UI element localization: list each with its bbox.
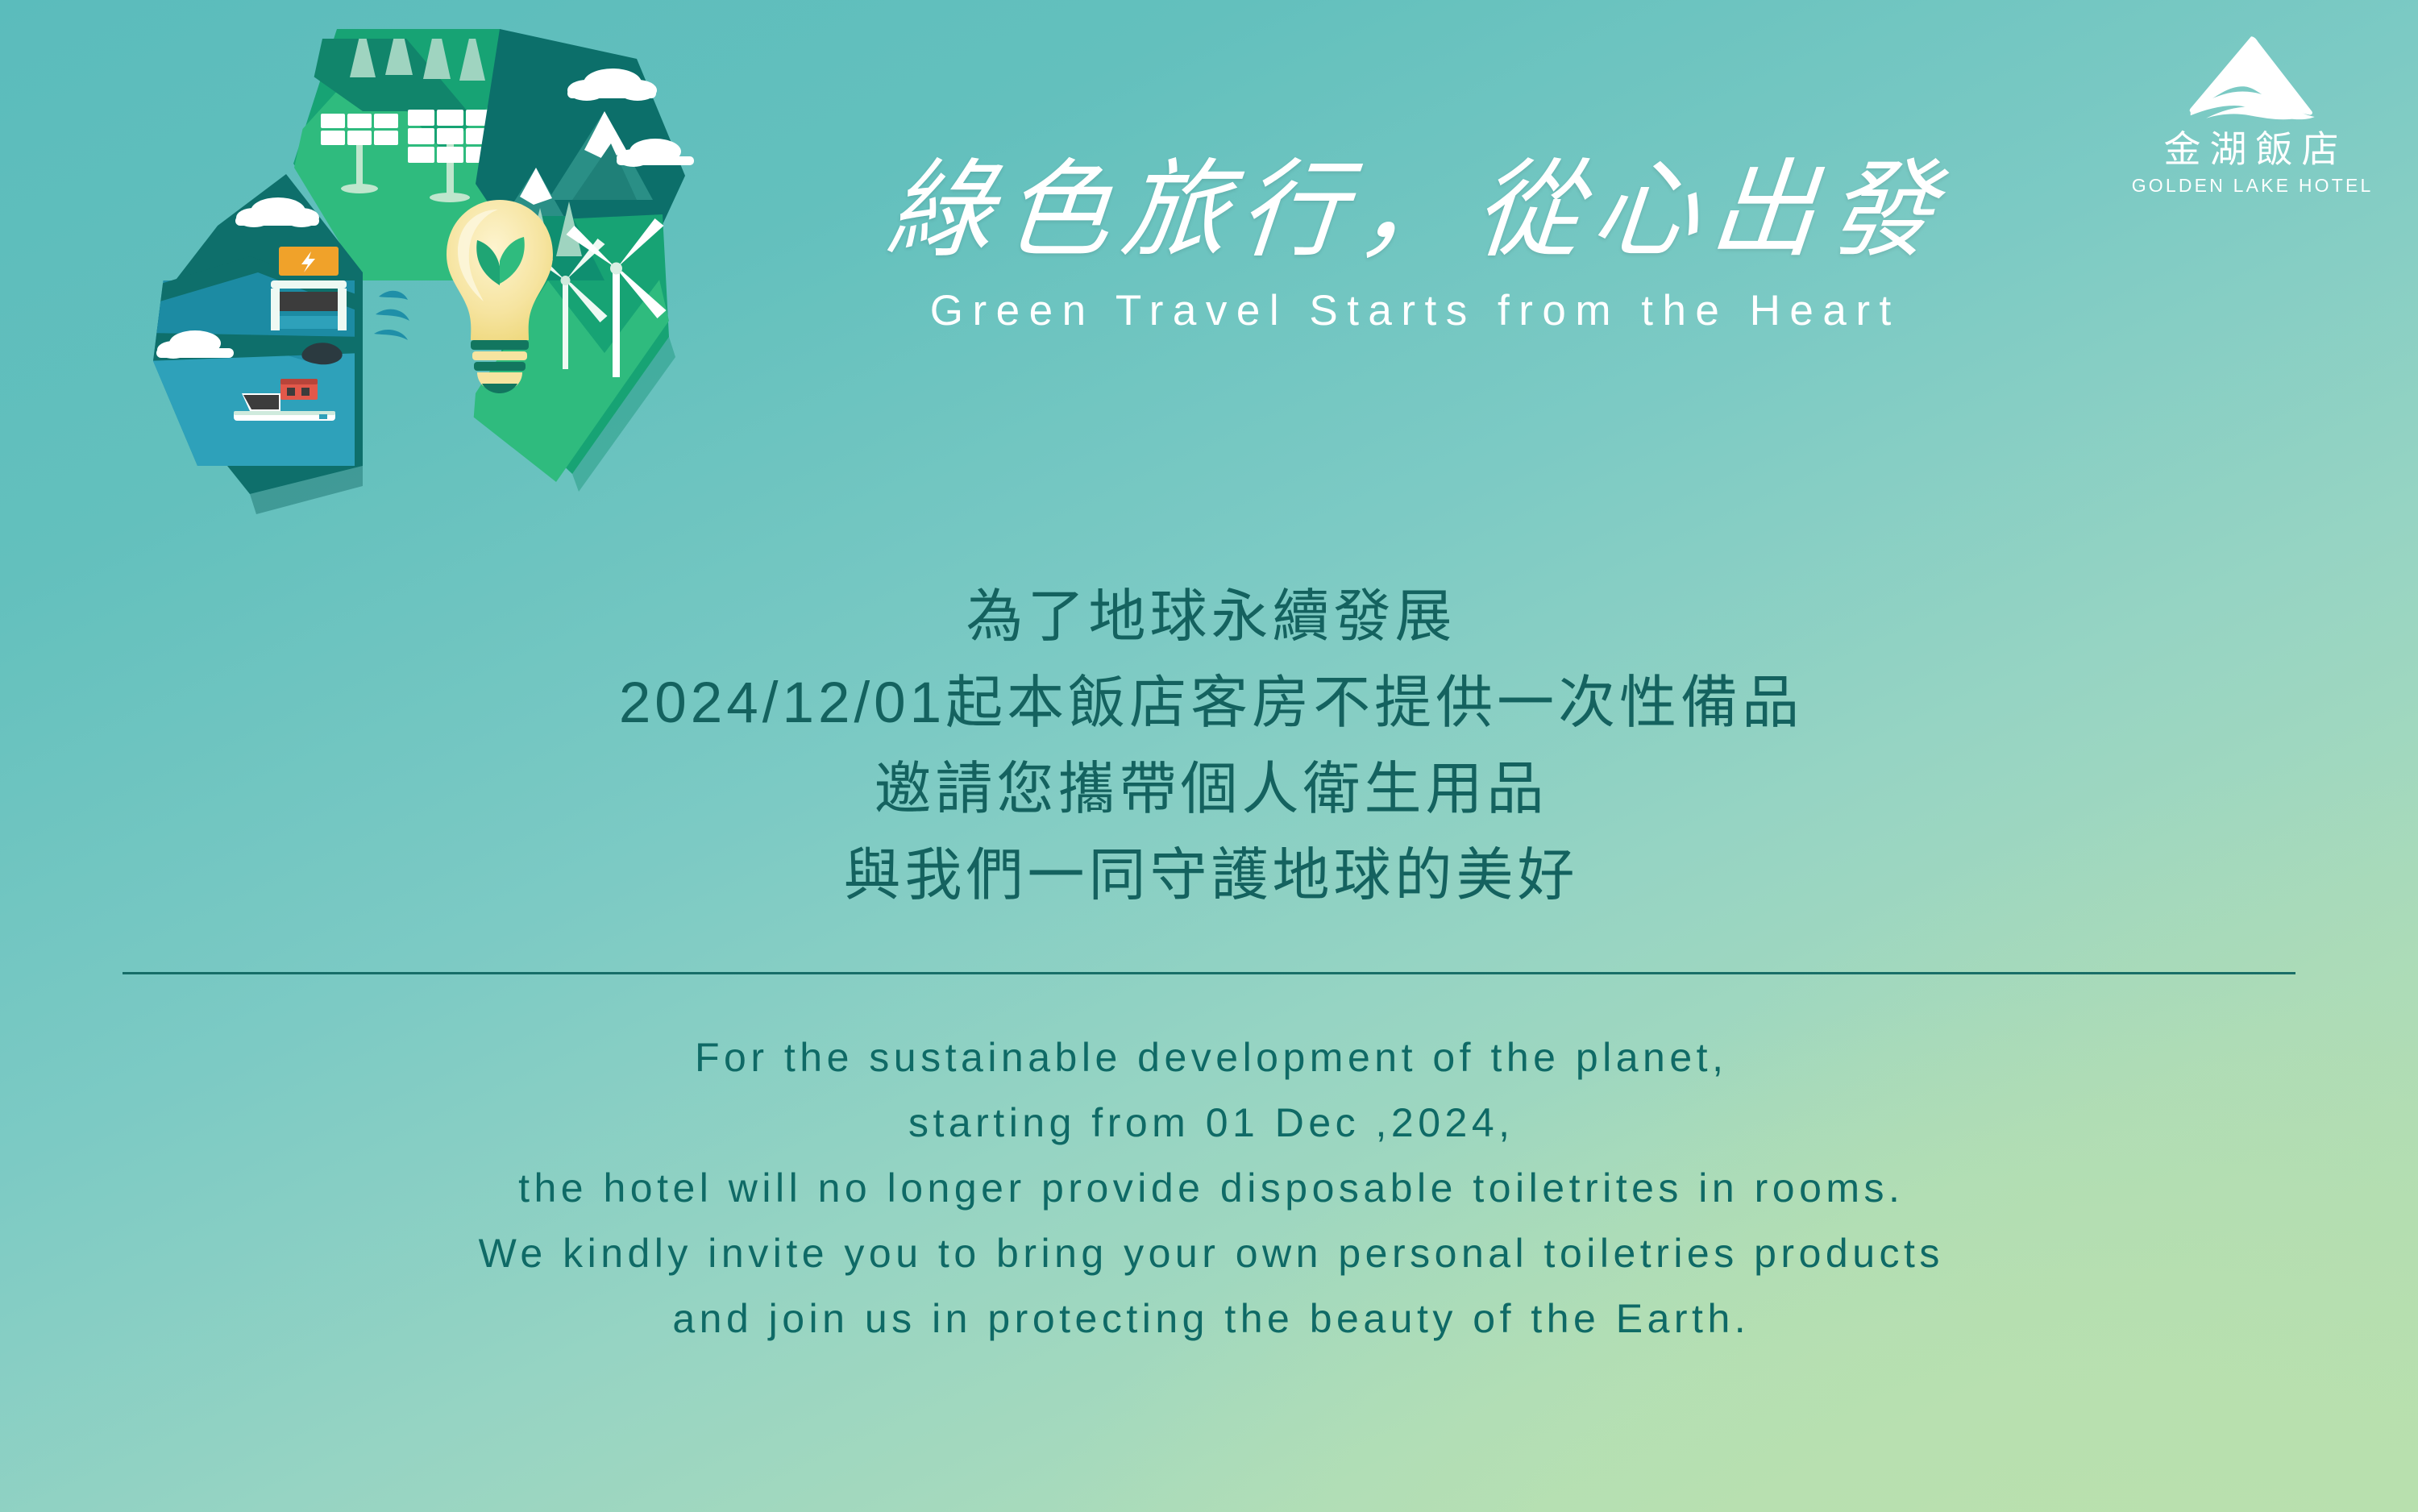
body-en-line-4: We kindly invite you to bring your own p…: [0, 1221, 2418, 1286]
body-cn-line-3: 邀請您攜帶個人衛生用品: [0, 746, 2418, 833]
body-text-en: For the sustainable development of the p…: [0, 1025, 2418, 1352]
green-travel-poster: 金湖飯店 GOLDEN LAKE HOTEL 綠色旅行，從心出發 Green T…: [0, 0, 2418, 1512]
body-en-line-2: starting from 01 Dec ,2024,: [0, 1090, 2418, 1156]
body-en-line-1: For the sustainable development of the p…: [0, 1025, 2418, 1090]
body-en-line-3: the hotel will no longer provide disposa…: [0, 1156, 2418, 1221]
logo-name-en: GOLDEN LAKE HOTEL: [2118, 177, 2384, 195]
logo-name-cn: 金湖飯店: [2118, 131, 2384, 168]
body-cn-line-1: 為了地球永續發展: [0, 574, 2418, 660]
headline-cn: 綠色旅行，從心出發: [753, 153, 2068, 268]
headline: 綠色旅行，從心出發 Green Travel Starts from the H…: [758, 153, 2063, 332]
water-splash: [374, 291, 409, 340]
body-cn-line-2: 2024/12/01起本飯店客房不提供一次性備品: [0, 660, 2418, 746]
mountain-wave-logo-icon: [2179, 32, 2323, 123]
hotel-logo: 金湖飯店 GOLDEN LAKE HOTEL: [2118, 32, 2384, 195]
battery-charging-station: [271, 247, 347, 330]
recycling-loop-illustration: [121, 15, 701, 538]
body-en-line-5: and join us in protecting the beauty of …: [0, 1286, 2418, 1352]
section-divider: [123, 972, 2295, 974]
headline-en: Green Travel Starts from the Heart: [758, 289, 2063, 332]
body-text-cn: 為了地球永續發展 2024/12/01起本飯店客房不提供一次性備品 邀請您攜帶個…: [0, 574, 2418, 919]
body-cn-line-4: 與我們一同守護地球的美好: [0, 833, 2418, 919]
